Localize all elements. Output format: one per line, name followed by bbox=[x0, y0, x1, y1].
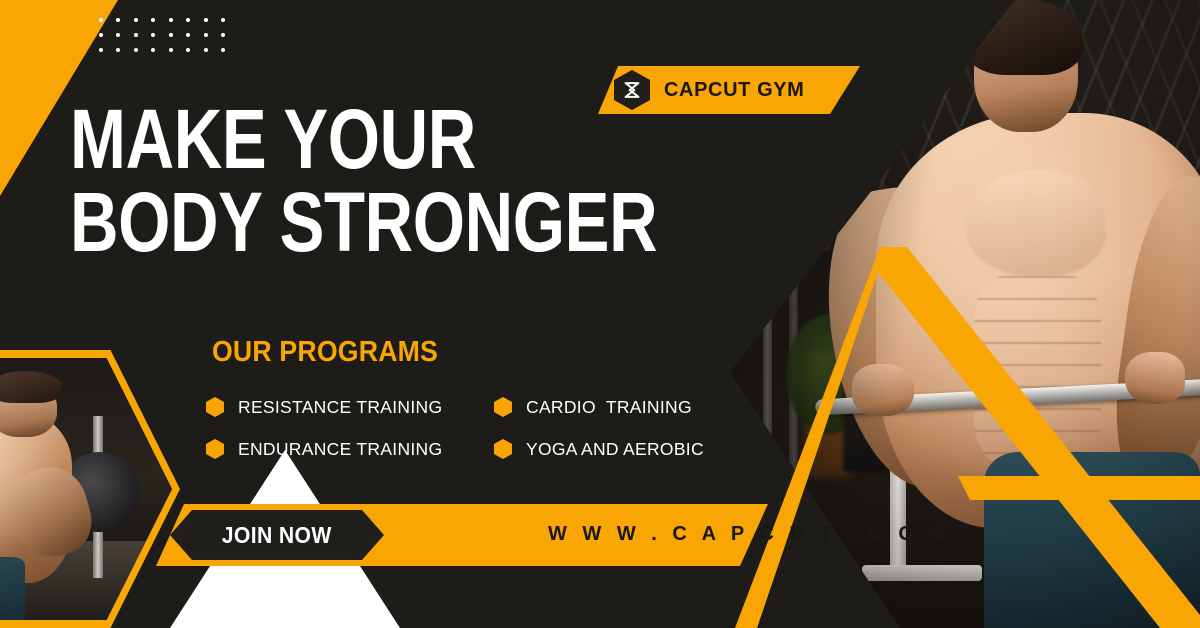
program-label: ENDURANCE TRAINING bbox=[238, 439, 442, 460]
list-item[interactable]: ENDURANCE TRAINING bbox=[206, 439, 494, 460]
page-title: MAKE YOUR BODY STRONGER bbox=[70, 98, 598, 264]
join-now-button[interactable]: JOIN NOW bbox=[170, 510, 384, 560]
list-item[interactable]: CARDIO TRAINING bbox=[494, 397, 746, 418]
join-now-label: JOIN NOW bbox=[222, 522, 332, 549]
hexagon-photo-image bbox=[0, 358, 172, 620]
programs-heading: OUR PROGRAMS bbox=[212, 336, 438, 369]
hexagon-bullet-icon bbox=[494, 439, 512, 459]
gym-promo-banner: CAPCUT GYM MAKE YOUR BODY STRONGER OUR P… bbox=[0, 0, 1200, 628]
list-item[interactable]: RESISTANCE TRAINING bbox=[206, 397, 494, 418]
brand-badge[interactable]: CAPCUT GYM bbox=[598, 66, 860, 114]
brand-badge-label: CAPCUT GYM bbox=[664, 79, 804, 102]
capcut-logo-icon bbox=[614, 70, 650, 110]
program-label: RESISTANCE TRAINING bbox=[238, 397, 442, 418]
dot-grid-decoration bbox=[92, 12, 232, 58]
program-label: CARDIO TRAINING bbox=[526, 397, 692, 418]
website-url: W W W . C A P C U T . C O M bbox=[548, 523, 951, 546]
programs-list: RESISTANCE TRAINING CARDIO TRAINING ENDU… bbox=[206, 386, 746, 470]
hexagon-bullet-icon bbox=[206, 439, 224, 459]
hexagon-bullet-icon bbox=[206, 397, 224, 417]
headline-line-2: BODY STRONGER bbox=[70, 181, 598, 264]
headline-line-1: MAKE YOUR bbox=[70, 98, 598, 181]
list-item[interactable]: YOGA AND AEROBIC bbox=[494, 439, 746, 460]
hexagon-photo-frame bbox=[0, 350, 180, 628]
program-label: YOGA AND AEROBIC bbox=[526, 439, 704, 460]
hexagon-bullet-icon bbox=[494, 397, 512, 417]
